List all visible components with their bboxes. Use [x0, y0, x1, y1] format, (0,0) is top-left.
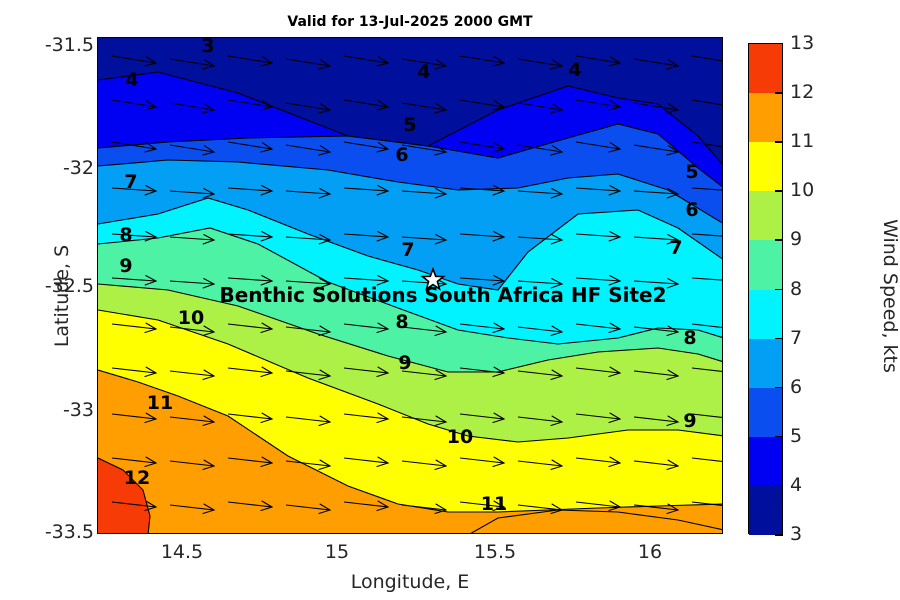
colorbar-segment [749, 240, 782, 290]
colorbar-tick-label: 7 [790, 327, 802, 349]
colorbar-tick-mark [775, 387, 783, 389]
x-tick-label: 16 [638, 541, 662, 563]
x-tick-label: 15 [325, 541, 349, 563]
colorbar-tick-label: 8 [790, 278, 802, 300]
contour-label: 5 [685, 161, 698, 183]
colorbar-tick-mark [775, 92, 783, 94]
colorbar-tick-mark [775, 338, 783, 340]
contour-label: 8 [395, 311, 408, 333]
colorbar-tick-mark [775, 485, 783, 487]
colorbar-tick-label: 13 [790, 32, 814, 54]
contour-label: 6 [395, 144, 408, 166]
x-tick-label: 14.5 [161, 541, 203, 563]
colorbar-segment [749, 93, 782, 143]
contour-label: 12 [124, 467, 150, 489]
y-tick-label: -33.5 [45, 521, 94, 543]
colorbar-tick-mark [775, 436, 783, 438]
colorbar-tick-mark [775, 141, 783, 143]
contour-label: 7 [124, 171, 137, 193]
y-tick-label: -31.5 [45, 34, 94, 56]
contour-label: 11 [481, 493, 507, 515]
colorbar-tick-label: 6 [790, 376, 802, 398]
colorbar-tick-label: 5 [790, 425, 802, 447]
y-axis-label: Latitude, S [51, 196, 73, 396]
page-title: Valid for 13-Jul-2025 2000 GMT [97, 14, 723, 30]
colorbar-tick-label: 4 [790, 474, 802, 496]
colorbar-tick-mark [775, 534, 783, 536]
colorbar-segment [749, 339, 782, 389]
contour-label: 5 [403, 114, 416, 136]
contour-label: 4 [125, 69, 138, 91]
x-tick-label: 15.5 [474, 541, 516, 563]
colorbar-tick-label: 10 [790, 179, 814, 201]
contour-label: 4 [417, 61, 430, 83]
contour-label: 10 [178, 307, 204, 329]
colorbar-tick-label: 11 [790, 130, 814, 152]
contour-label: 6 [685, 199, 698, 221]
contour-label: 10 [447, 426, 473, 448]
contour-label: 7 [401, 239, 414, 261]
colorbar-tick-label: 3 [790, 523, 802, 545]
contour-label: 11 [147, 392, 173, 414]
colorbar-tick-label: 9 [790, 228, 802, 250]
colorbar-segment [749, 388, 782, 438]
contour-label: 8 [119, 224, 132, 246]
colorbar-segment [749, 191, 782, 241]
site-label: Benthic Solutions South Africa HF Site2 [219, 283, 666, 307]
y-tick-label: -32 [63, 157, 94, 179]
x-axis-label: Longitude, E [97, 571, 723, 593]
colorbar-tick-label: 12 [790, 81, 814, 103]
contour-label: 9 [119, 255, 132, 277]
contour-label: 9 [398, 352, 411, 374]
contour-label: 7 [669, 237, 682, 259]
colorbar-tick-mark [775, 190, 783, 192]
y-tick-label: -33 [63, 399, 94, 421]
colorbar-segment [749, 486, 782, 536]
colorbar-segment [749, 437, 782, 487]
colorbar-label: Wind Speed, kts [879, 166, 900, 426]
colorbar-segment [749, 142, 782, 192]
colorbar-segment [749, 290, 782, 340]
contour-label: 8 [683, 327, 696, 349]
colorbar-tick-mark [775, 239, 783, 241]
colorbar-segment [749, 44, 782, 94]
contour-label: 4 [568, 59, 581, 81]
contour-label: 3 [201, 35, 214, 57]
colorbar-tick-mark [775, 289, 783, 291]
contour-label: 9 [683, 410, 696, 432]
